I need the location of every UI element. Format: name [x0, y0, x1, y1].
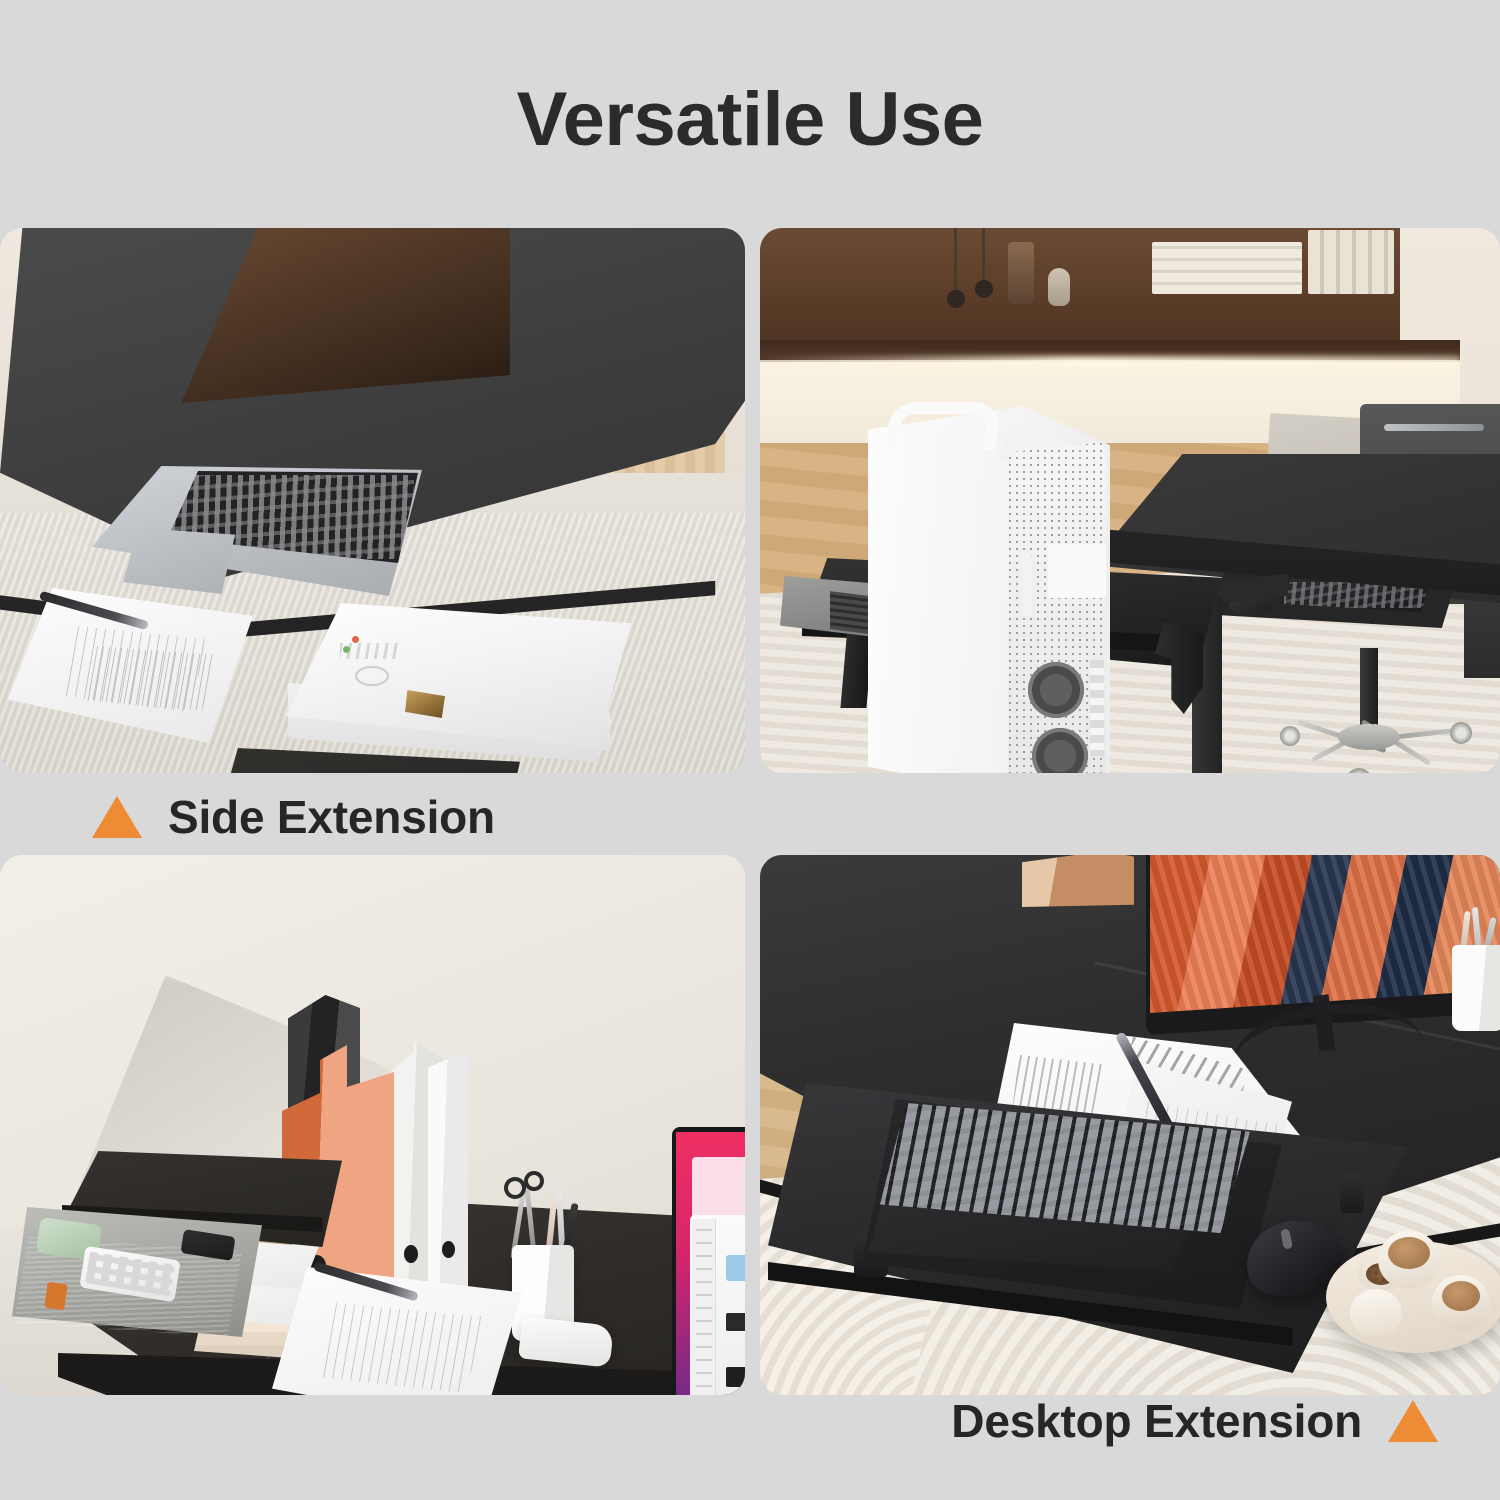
coffee-surface [1388, 1237, 1430, 1269]
caption-side-extension: Side Extension [92, 790, 495, 844]
product-feature-page: Versatile Use [0, 0, 1500, 1500]
magazine-file-hole [442, 1241, 455, 1258]
monitor [672, 1127, 745, 1395]
pendant-light-bulb [975, 280, 993, 298]
photo-panel-desktop-extension-organisers [0, 855, 745, 1395]
shelf-bottle [1008, 242, 1034, 304]
screen-window-background [692, 1157, 745, 1223]
pendant-light-bulb [947, 290, 965, 308]
tray-support-bracket [1340, 1173, 1364, 1213]
notebook-grid-page [85, 646, 215, 711]
monitor-screen-wallpaper [1150, 855, 1500, 1013]
pendant-light-cord [982, 228, 985, 284]
screen-thumbnail [726, 1367, 745, 1387]
page-title: Versatile Use [0, 76, 1500, 163]
triangle-up-icon [1388, 1400, 1438, 1442]
laptop-trackpad [123, 528, 235, 594]
caption-side-extension-label: Side Extension [168, 790, 495, 844]
screen-window-sidebar [692, 1219, 716, 1395]
pen-cup [1452, 945, 1500, 1031]
caption-desktop-extension-label: Desktop Extension [951, 1394, 1362, 1448]
tower-carry-handle [885, 402, 1000, 450]
chair-caster [1450, 722, 1472, 744]
tower-port-column [1090, 660, 1104, 756]
notebook-ruled-lines [318, 1303, 488, 1393]
printer-indicator-red [352, 636, 359, 643]
shelf-vase [1048, 268, 1070, 306]
photo-panel-side-extension-printer [0, 228, 745, 773]
tower-side-latch [1022, 554, 1032, 616]
pendant-light-cord [954, 228, 957, 294]
screen-thumbnail [726, 1313, 745, 1331]
chair-base-hub [1338, 724, 1400, 750]
caption-desktop-extension: Desktop Extension [951, 1394, 1438, 1448]
chair-caster [1280, 726, 1300, 746]
triangle-up-icon [92, 796, 142, 838]
photo-panel-side-extension-tower-pc [760, 228, 1500, 773]
printer-indicator-green [343, 646, 350, 653]
shelf-books-upright [1308, 230, 1394, 294]
book-on-desk [1022, 855, 1134, 907]
printer-power-button [355, 666, 389, 686]
photo-panel-desktop-extension-keyboard [760, 855, 1500, 1395]
monitor-light-bar [1384, 424, 1484, 431]
ceramic-cup [1350, 1289, 1402, 1337]
screen-thumbnail [726, 1255, 745, 1281]
drawer-pull-tab [44, 1282, 67, 1311]
tower-label [1048, 544, 1106, 598]
wall-shelf [760, 228, 1400, 350]
shelf-books-stack [1152, 242, 1302, 294]
tower-fan [1028, 662, 1084, 718]
coffee-surface [1442, 1281, 1480, 1311]
magazine-file-hole [404, 1245, 418, 1263]
